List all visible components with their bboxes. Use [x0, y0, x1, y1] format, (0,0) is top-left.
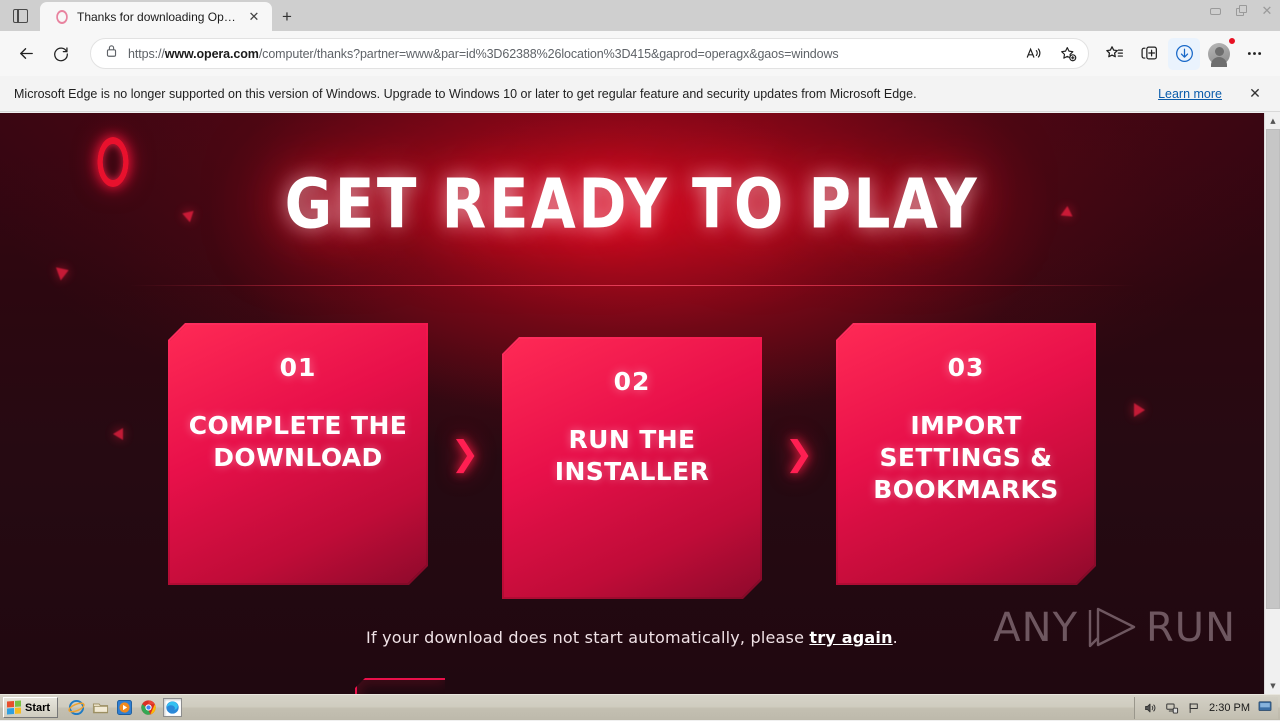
opera-o-icon [54, 9, 70, 25]
ellipsis-more-icon[interactable] [1238, 38, 1270, 70]
url-text: https://www.opera.com/computer/thanks?pa… [128, 47, 1008, 61]
chevron-right-icon: ❯ [426, 325, 504, 583]
step-title: COMPLETE THE DOWNLOAD [170, 410, 426, 474]
scroll-up-arrow-icon[interactable]: ▲ [1265, 113, 1280, 129]
windows-flag-icon [7, 701, 21, 715]
opera-thanks-page: GET READY TO PLAY 01 COMPLETE THE DOWNLO… [0, 113, 1264, 694]
close-icon[interactable]: ✕ [1254, 0, 1280, 22]
notification-bar: Microsoft Edge is no longer supported on… [0, 76, 1280, 112]
windows-taskbar: Start [0, 694, 1280, 720]
page-scrollbar[interactable]: ▲ ▼ [1264, 113, 1280, 694]
browser-title-bar: Thanks for downloading Opera ✕ + ✕ [0, 0, 1280, 31]
tab-actions-icon[interactable] [0, 0, 40, 31]
close-icon[interactable]: ✕ [1244, 85, 1266, 102]
watermark-right-text: RUN [1146, 608, 1236, 648]
scroll-down-arrow-icon[interactable]: ▼ [1265, 678, 1280, 694]
anyrun-watermark: ANY RUN [993, 605, 1236, 651]
close-icon[interactable]: ✕ [244, 7, 264, 27]
lock-icon [105, 44, 118, 63]
favorites-list-icon[interactable] [1098, 38, 1130, 70]
partial-card-below-fold [355, 678, 445, 694]
step-number: 03 [948, 353, 985, 382]
clock[interactable]: 2:30 PM [1209, 702, 1250, 714]
microsoft-edge-icon[interactable] [164, 699, 181, 716]
anyrun-play-logo-icon [1084, 605, 1140, 651]
media-player-icon[interactable] [116, 699, 133, 716]
show-desktop-icon[interactable] [1258, 701, 1272, 715]
decorative-particle [56, 264, 71, 281]
notification-message: Microsoft Edge is no longer supported on… [14, 87, 1158, 101]
address-bar[interactable]: https://www.opera.com/computer/thanks?pa… [90, 38, 1089, 69]
google-chrome-icon[interactable] [140, 699, 157, 716]
step-title: IMPORT SETTINGS & BOOKMARKS [838, 410, 1094, 506]
address-bar-actions [1018, 38, 1084, 69]
action-center-flag-icon[interactable] [1187, 701, 1201, 715]
steps-row: 01 COMPLETE THE DOWNLOAD ❯ 02 RUN THE IN… [0, 325, 1264, 595]
volume-icon[interactable] [1143, 701, 1157, 715]
new-tab-button[interactable]: + [272, 3, 302, 31]
collections-icon[interactable] [1133, 38, 1165, 70]
start-button[interactable]: Start [3, 697, 58, 718]
scrollbar-thumb[interactable] [1266, 129, 1280, 609]
quick-launch-bar [62, 699, 187, 716]
restore-icon[interactable] [1228, 0, 1254, 22]
learn-more-link[interactable]: Learn more [1158, 87, 1222, 101]
step-title: RUN THE INSTALLER [504, 424, 760, 488]
step-card-01: 01 COMPLETE THE DOWNLOAD [170, 325, 426, 583]
step-number: 02 [614, 367, 651, 396]
try-again-link[interactable]: try again [809, 628, 892, 647]
network-icon[interactable] [1165, 701, 1179, 715]
start-label: Start [25, 702, 50, 714]
footnote-suffix: . [893, 628, 898, 647]
downloads-icon[interactable] [1168, 38, 1200, 70]
step-number: 01 [280, 353, 317, 382]
page-viewport: GET READY TO PLAY 01 COMPLETE THE DOWNLO… [0, 113, 1280, 694]
tab-title: Thanks for downloading Opera [77, 10, 237, 24]
file-explorer-icon[interactable] [92, 699, 109, 716]
divider [130, 285, 1134, 286]
page-title: GET READY TO PLAY [0, 170, 1264, 238]
avatar [1208, 43, 1230, 65]
add-favorite-star-icon[interactable] [1052, 38, 1084, 69]
step-card-03: 03 IMPORT SETTINGS & BOOKMARKS [838, 325, 1094, 583]
footnote-prefix: If your download does not start automati… [366, 628, 809, 647]
read-aloud-icon[interactable] [1018, 38, 1050, 69]
internet-explorer-icon[interactable] [68, 699, 85, 716]
minimize-icon[interactable] [1202, 0, 1228, 22]
profile-avatar-icon[interactable] [1203, 38, 1235, 70]
watermark-left-text: ANY [993, 608, 1078, 648]
chevron-right-icon: ❯ [760, 325, 838, 583]
window-controls: ✕ [1202, 0, 1280, 22]
system-tray: 2:30 PM [1134, 697, 1278, 719]
status-badge [1228, 37, 1236, 45]
browser-tab[interactable]: Thanks for downloading Opera ✕ [40, 2, 272, 31]
step-card-02: 02 RUN THE INSTALLER [504, 325, 760, 597]
refresh-icon[interactable] [45, 38, 77, 70]
back-arrow-icon[interactable] [10, 38, 42, 70]
browser-toolbar: https://www.opera.com/computer/thanks?pa… [0, 31, 1280, 76]
